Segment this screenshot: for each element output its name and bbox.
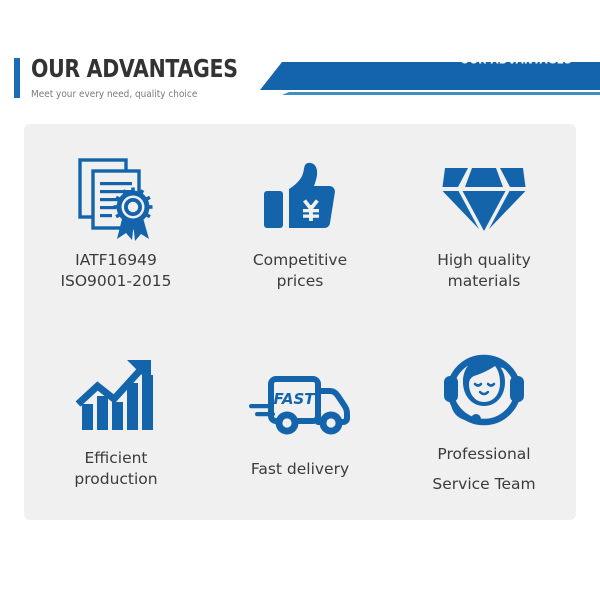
advantage-item-efficient-production: Efficient production — [24, 322, 208, 520]
advantage-label: Professional Service Team — [432, 439, 535, 499]
thumbs-up-yen-icon — [258, 154, 342, 240]
advantage-label: Efficient production — [74, 448, 157, 490]
advantage-label: IATF16949 ISO9001-2015 — [60, 250, 171, 292]
page-title: OUR ADVANTAGES — [31, 56, 238, 82]
diamond-gem-icon — [441, 154, 527, 240]
fast-delivery-truck-icon: FAST — [248, 363, 352, 449]
title-accent-bar — [14, 58, 20, 98]
advantage-item-fast-delivery: FAST Fast delivery — [208, 322, 392, 520]
advantage-item-professional-service: Professional Service Team — [392, 322, 576, 520]
title-text-wrap: OUR ADVANTAGES Meet your every need, qua… — [31, 56, 283, 101]
advantage-label: Competitive prices — [253, 250, 347, 292]
title-block: OUR ADVANTAGES Meet your every need, qua… — [14, 56, 283, 101]
advantage-item-high-quality: High quality materials — [392, 124, 576, 322]
advantage-item-competitive-prices: Competitive prices — [208, 124, 392, 322]
header-banner-underline — [282, 92, 600, 95]
advantage-item-certificate: IATF16949 ISO9001-2015 — [24, 124, 208, 322]
truck-fast-badge-text: FAST — [274, 390, 317, 408]
growth-chart-arrow-icon — [73, 352, 159, 438]
page-header: OUR ADVANTAGES Meet your every need, qua… — [0, 0, 600, 118]
header-banner-label: OUR ADVANTAGES — [460, 52, 572, 67]
advantage-label: Fast delivery — [251, 459, 349, 480]
advantage-label: High quality materials — [437, 250, 531, 292]
advantages-panel: IATF16949 ISO9001-2015 — [24, 124, 576, 520]
advantages-infographic: OUR ADVANTAGES Meet your every need, qua… — [0, 0, 600, 600]
certificate-award-icon — [69, 154, 163, 240]
advantages-grid: IATF16949 ISO9001-2015 — [24, 124, 576, 520]
page-subtitle: Meet your every need, quality choice — [31, 89, 268, 101]
headset-support-agent-icon — [441, 343, 527, 429]
